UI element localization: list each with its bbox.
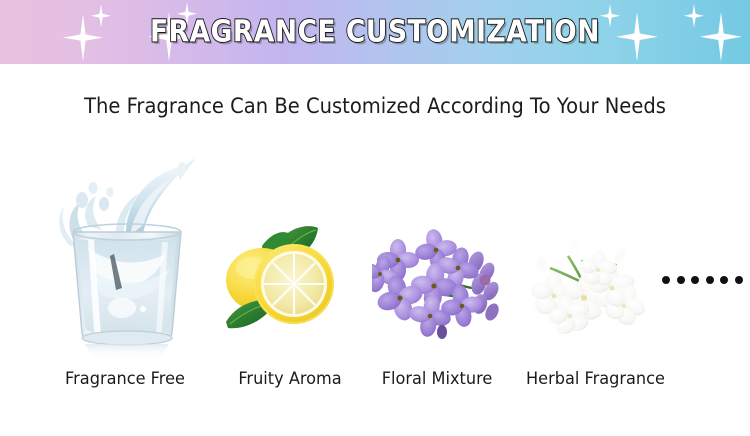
fragrance-customization-page: FRAGRANCE CUSTOMIZATION The Fragrance Ca… [0,0,750,436]
header-banner: FRAGRANCE CUSTOMIZATION [0,0,750,64]
subtitle-text: The Fragrance Can Be Customized Accordin… [26,94,724,118]
more-options-ellipsis [662,276,743,284]
water-glass-graphic [30,148,210,360]
lemon-graphic [218,218,343,340]
ellipsis-dot [720,276,728,284]
lilac-blossoms [372,228,486,340]
lilac-flowers-image [372,228,502,340]
glass-of-water-splash-image [30,148,210,360]
ellipsis-dot [677,276,685,284]
option-label-fragrance-free: Fragrance Free [40,369,211,389]
ellipsis-dot [691,276,699,284]
ellipsis-dot [735,276,743,284]
glass-reflection [85,344,169,360]
option-label-fruity-aroma: Fruity Aroma [219,369,362,389]
white-jasmine-flowers-image [520,238,650,338]
page-title: FRAGRANCE CUSTOMIZATION [0,0,750,64]
lemon-fruit-image [218,218,343,340]
lilac-graphic [372,228,502,340]
white-flowers-graphic [520,238,650,338]
drinking-glass-shape [73,224,181,345]
option-label-floral-mixture: Floral Mixture [371,369,504,389]
option-label-herbal-fragrance: Herbal Fragrance [512,369,678,389]
ellipsis-dot [662,276,670,284]
ellipsis-dot [706,276,714,284]
